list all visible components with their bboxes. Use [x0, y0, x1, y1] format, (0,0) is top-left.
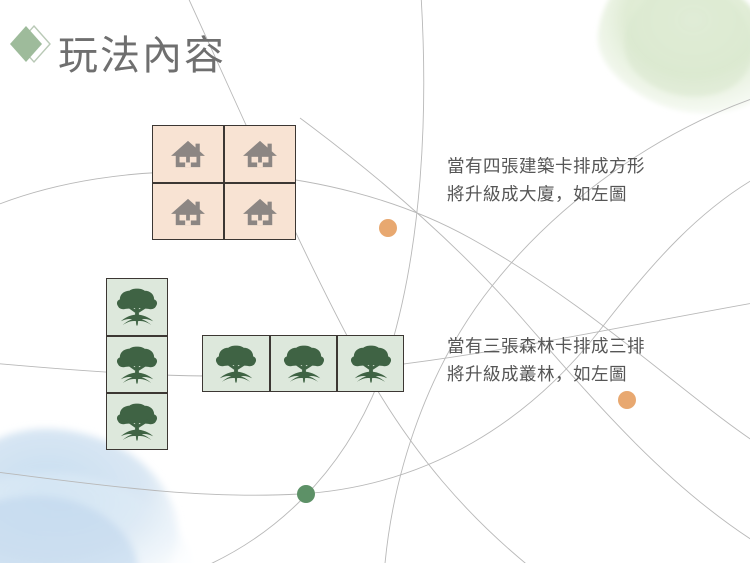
orange-dot-right [618, 391, 636, 409]
tree-icon [115, 345, 159, 385]
forest-card-column [106, 278, 168, 450]
house-icon [241, 138, 279, 170]
tree-icon [115, 402, 159, 442]
forest-card[interactable] [337, 335, 404, 392]
forest-card[interactable] [270, 335, 337, 392]
orange-dot-center [379, 219, 397, 237]
forest-card-row [202, 335, 404, 392]
forest-rule-caption: 當有三張森林卡排成三排將升級成叢林，如左圖 [447, 332, 652, 389]
building-card-grid [152, 125, 296, 240]
watercolor-blob-green [598, 0, 750, 113]
forest-card[interactable] [106, 393, 168, 450]
building-card[interactable] [152, 125, 224, 183]
tree-icon [282, 344, 326, 384]
building-card[interactable] [224, 183, 296, 240]
title-block: 玩法內容 [0, 8, 420, 108]
house-icon [169, 138, 207, 170]
page-title: 玩法內容 [58, 36, 226, 76]
slide-canvas: 玩法內容 [0, 0, 750, 563]
building-rule-caption: 當有四張建築卡排成方形將升級成大廈，如左圖 [447, 152, 652, 209]
green-dot-bottom [297, 485, 315, 503]
tree-icon [349, 344, 393, 384]
building-card[interactable] [152, 183, 224, 240]
house-icon [241, 196, 279, 228]
tree-icon [214, 344, 258, 384]
diamond-icon [8, 22, 52, 66]
forest-card[interactable] [106, 336, 168, 393]
building-card[interactable] [224, 125, 296, 183]
house-icon [169, 196, 207, 228]
forest-card[interactable] [202, 335, 270, 392]
tree-icon [115, 287, 159, 327]
forest-card[interactable] [106, 278, 168, 336]
